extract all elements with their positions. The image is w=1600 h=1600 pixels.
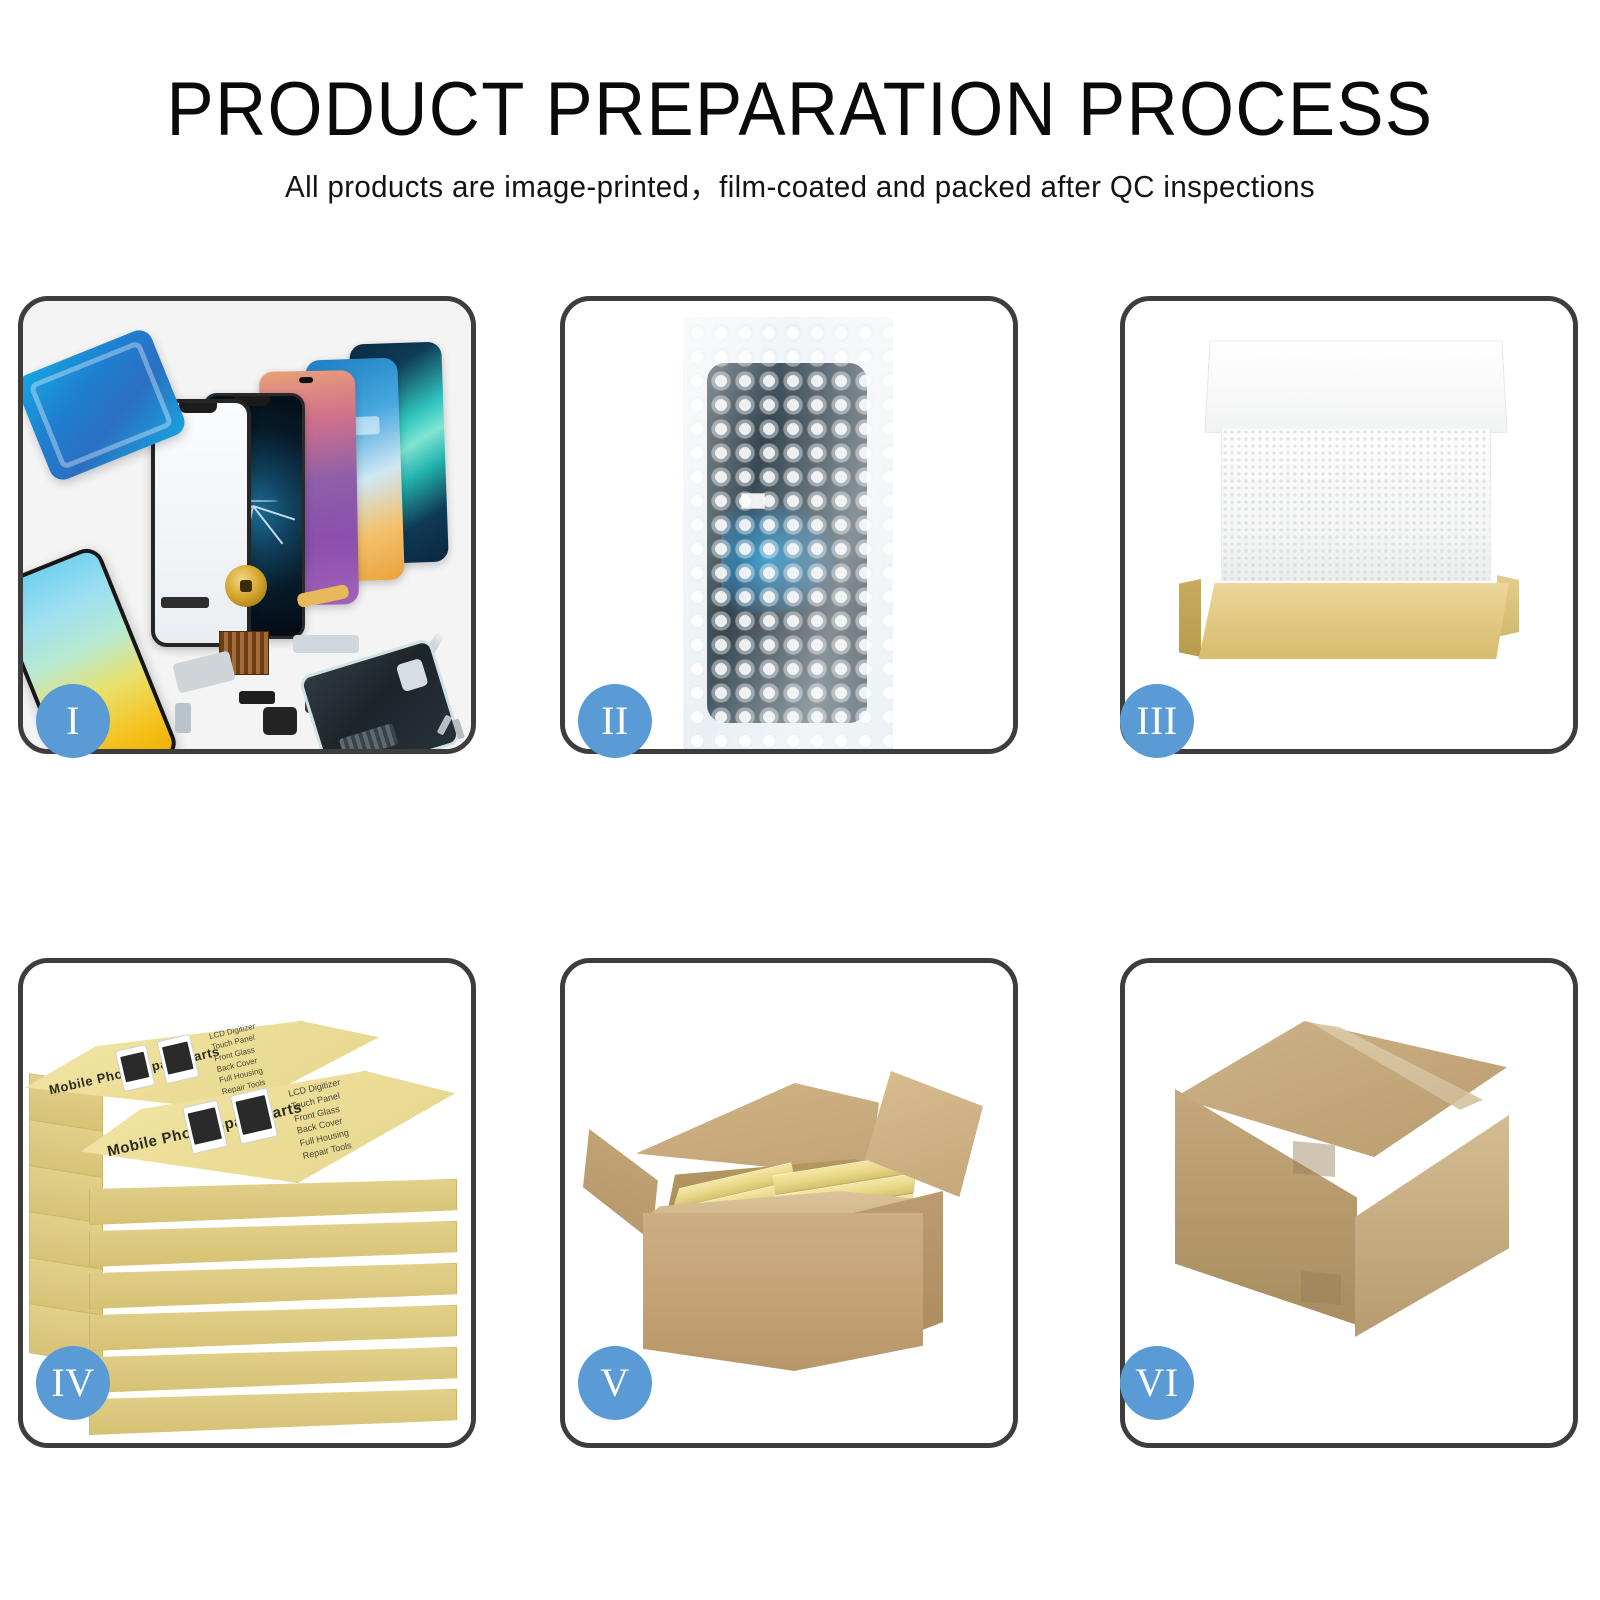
step-badge-2: II — [578, 684, 652, 758]
carton-tab — [1301, 1271, 1341, 1305]
box-stack-edge — [89, 1221, 457, 1267]
open-retail-box-photo — [1125, 301, 1573, 749]
flex-cable-part — [293, 635, 359, 653]
flex-cable-part — [172, 650, 236, 693]
box-left-flap — [1179, 579, 1201, 657]
step-badge-4: IV — [36, 1346, 110, 1420]
camera-module-part — [263, 707, 297, 735]
sim-tray-part — [175, 703, 191, 733]
step-panel-1 — [18, 296, 476, 754]
foam-insert — [1221, 429, 1491, 581]
step-2-image — [565, 301, 1013, 749]
vibration-motor-part — [225, 565, 267, 607]
box-lid-back — [1204, 341, 1507, 434]
page-title: PRODUCT PREPARATION PROCESS — [56, 72, 1544, 148]
step-panel-3 — [1120, 296, 1578, 754]
page-subtitle: All products are image-printed，film-coat… — [40, 168, 1560, 205]
page-header: PRODUCT PREPARATION PROCESS All products… — [0, 0, 1600, 250]
speaker-part — [161, 597, 209, 608]
box-stack-edge — [89, 1389, 457, 1435]
step-badge-5: V — [578, 1346, 652, 1420]
box-stack-edge — [89, 1347, 457, 1393]
connector-part — [239, 691, 275, 704]
box-front-wall — [1189, 583, 1509, 659]
carton-tab — [1293, 1141, 1335, 1177]
bubble-wrap-bag — [683, 317, 893, 749]
step-1-image — [23, 301, 471, 749]
box-stack-edge — [89, 1179, 457, 1225]
carton-body-front — [643, 1213, 923, 1371]
step-badge-1: I — [36, 684, 110, 758]
step-badge-3: III — [1120, 684, 1194, 758]
spare-parts-photo — [23, 301, 471, 749]
bag-sheen — [683, 317, 893, 749]
bubble-wrap-photo — [565, 301, 1013, 749]
box-stack-edge — [89, 1305, 457, 1351]
step-badge-6: VI — [1120, 1346, 1194, 1420]
step-3-image — [1125, 301, 1573, 749]
box-stack-edge — [89, 1263, 457, 1309]
step-panel-2 — [560, 296, 1018, 754]
